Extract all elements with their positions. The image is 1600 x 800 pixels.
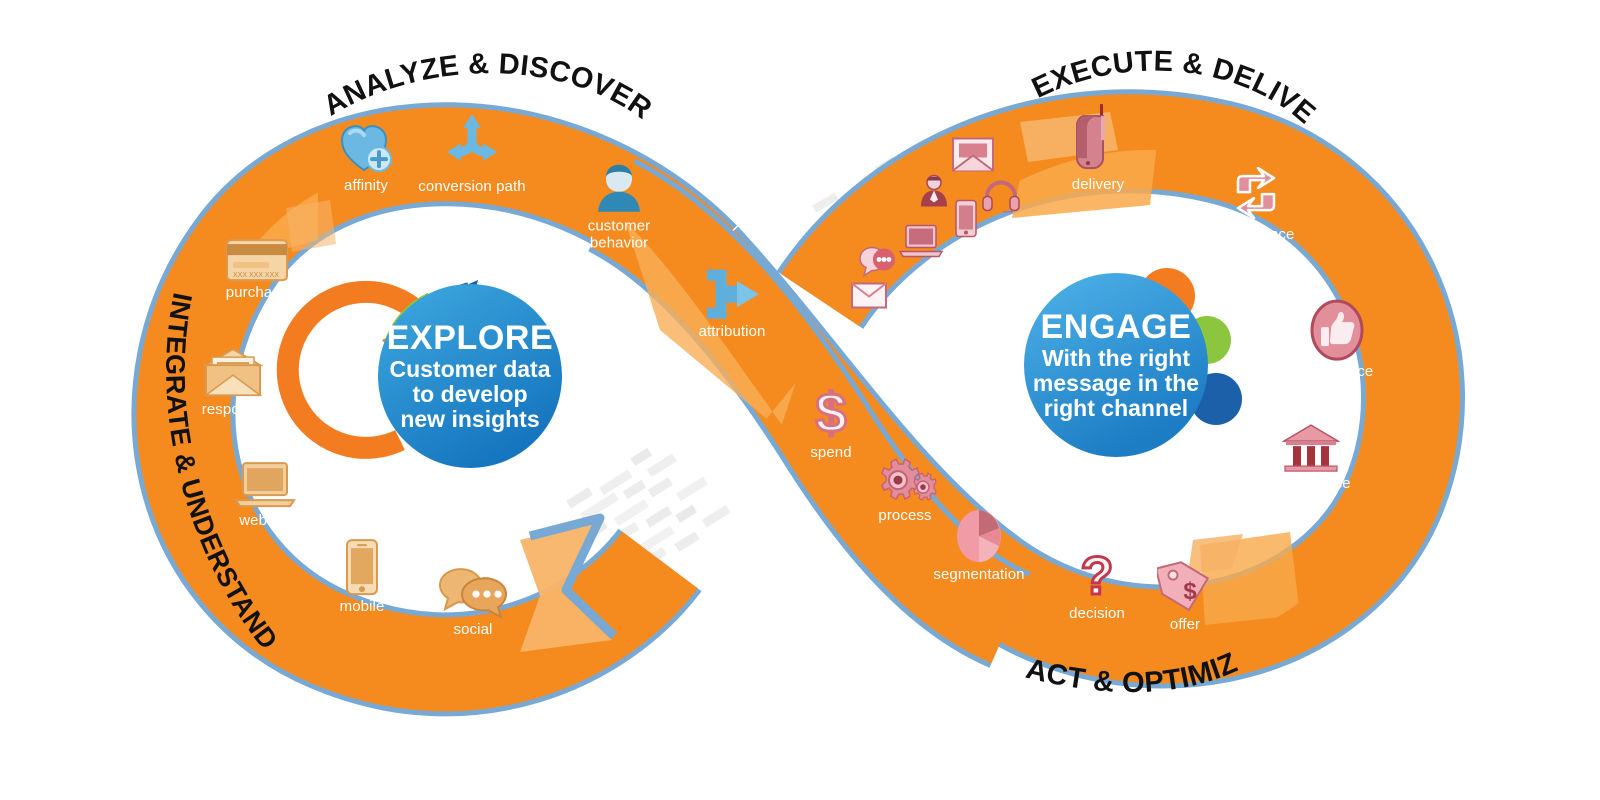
recycle-arrows-icon — [1224, 162, 1288, 224]
node-attribution[interactable]: attribution — [657, 269, 807, 341]
node-spend[interactable]: $ spend — [756, 384, 906, 462]
envelope-icon — [851, 283, 887, 309]
laptop-icon — [899, 224, 943, 258]
chat-bubbles-icon — [437, 565, 509, 619]
infographic-canvas: EXPLORE Customer data to develop new ins… — [0, 0, 1600, 800]
mailbox-icon — [1067, 102, 1129, 174]
node-preference[interactable]: preference — [1262, 299, 1412, 381]
node-label: purchase — [226, 285, 289, 302]
svg-text:$: $ — [815, 384, 846, 442]
svg-text:?: ? — [1081, 547, 1114, 603]
node-conversion-path[interactable]: conversion path — [397, 114, 547, 196]
svg-text:XXX XXX XXX: XXX XXX XXX — [233, 272, 279, 279]
node-customer-behavior[interactable]: customerbehavior — [544, 162, 694, 253]
thumbs-up-icon — [1309, 299, 1365, 361]
node-label: delivery — [1072, 177, 1125, 194]
bank-columns-icon — [1282, 423, 1340, 473]
headset-icon — [982, 181, 1020, 213]
node-label: governance — [1271, 476, 1350, 493]
node-offer[interactable]: $ offer — [1110, 558, 1260, 634]
node-label-text: customerbehavior — [588, 218, 651, 252]
node-label: offer — [1170, 617, 1200, 634]
node-label: conversion path — [418, 179, 525, 196]
channel-smartphone[interactable] — [955, 200, 977, 243]
node-label: mobile — [340, 599, 385, 616]
node-response[interactable]: response — [158, 347, 308, 419]
branching-arrows-icon — [429, 114, 515, 176]
node-label: affinity — [344, 178, 388, 195]
node-label: preference — [1301, 364, 1374, 381]
support-agent-icon — [918, 174, 950, 208]
channel-headset[interactable] — [982, 181, 1020, 218]
heart-plus-icon — [338, 121, 394, 175]
node-website[interactable]: website — [190, 460, 340, 530]
node-label: social — [454, 622, 493, 639]
open-mail-icon — [952, 138, 994, 172]
node-label: website — [239, 513, 291, 530]
channel-chat[interactable] — [859, 246, 899, 283]
person-avatar-icon — [593, 162, 645, 216]
node-label: segmentation — [933, 567, 1024, 584]
node-purchase[interactable]: XXX XXX XXX purchase — [182, 238, 332, 302]
node-governance[interactable]: governance — [1236, 423, 1386, 493]
smartphone-icon — [345, 538, 379, 596]
channel-support-agent[interactable] — [918, 174, 950, 213]
node-label: response — [202, 402, 265, 419]
node-delivery[interactable]: delivery — [1023, 102, 1173, 194]
channel-open-mail[interactable] — [952, 138, 994, 177]
node-label: customerbehavior — [588, 219, 651, 253]
price-tag-icon: $ — [1157, 558, 1213, 614]
credit-card-icon: XXX XXX XXX — [225, 238, 289, 282]
gears-icon — [872, 455, 938, 505]
channel-laptop[interactable] — [899, 224, 943, 263]
node-social[interactable]: social — [398, 565, 548, 639]
laptop-icon — [234, 460, 296, 510]
open-envelope-icon — [202, 347, 264, 399]
chat-bubble-icon — [859, 246, 899, 278]
dollar-sign-icon: $ — [811, 384, 851, 442]
svg-text:$: $ — [1183, 578, 1197, 605]
channel-envelope[interactable] — [851, 283, 887, 314]
node-label: compliance — [1218, 227, 1295, 244]
pie-chart-icon — [953, 508, 1005, 564]
node-label: attribution — [699, 324, 766, 341]
node-compliance[interactable]: compliance — [1181, 162, 1331, 244]
merge-arrow-icon — [697, 269, 767, 321]
smartphone-icon — [955, 200, 977, 238]
